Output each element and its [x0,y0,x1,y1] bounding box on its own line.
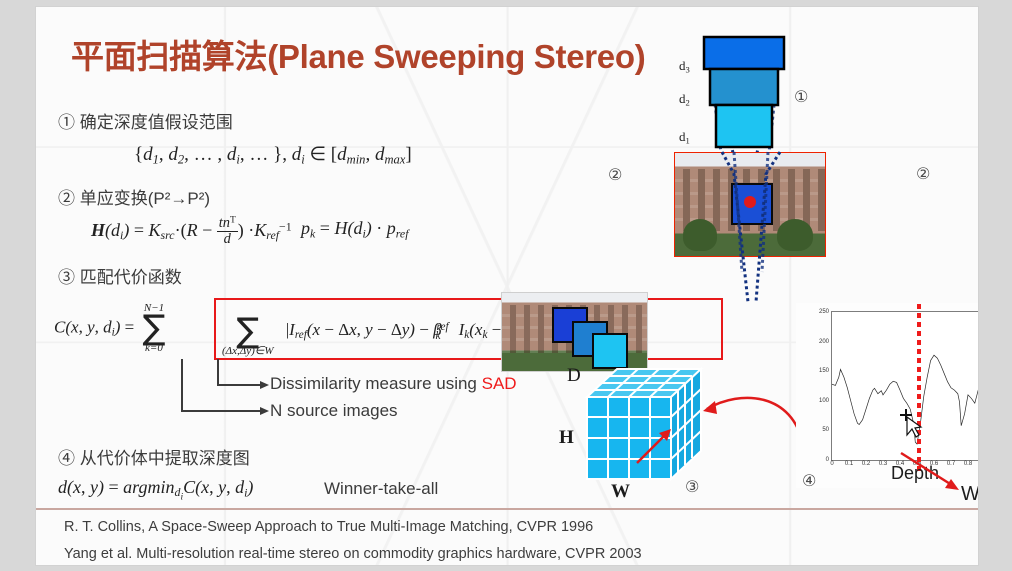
page-title: 平面扫描算法(Plane Sweeping Stereo) [71,30,645,78]
step-4-label: 从代价体中提取深度图 [80,449,250,468]
step-1-marker: ① [58,113,75,132]
frustum-label-d2: d2 [679,91,690,107]
shrub-left [683,219,717,251]
step-4-marker: ④ [58,449,75,468]
step-3-heading: ③ 匹配代价函数 [58,263,182,288]
step-1-formula: {d1, d2, … , di, … }, di ∈ [dmin, dmax] [134,143,412,168]
step-2-formula-p: pk = H(di) · pref [301,218,409,241]
citation-2: Yang et al. Multi-resolution real-time s… [64,546,642,562]
callout-2-left: ② [608,165,622,184]
chart-xtick-0.2: 0.2 [862,461,870,467]
photo-consistency-chart: Photo consistency 0 50 100 150 200 250 0… [796,303,979,488]
callout-2-right: ② [916,164,930,183]
chart-line-series [832,312,979,460]
chart-xtick-0.1: 0.1 [845,461,853,467]
callout-1: ① [794,87,808,106]
step-3-formula-lhs: C(x, y, di) = N−1∑k=0 [54,303,165,354]
step-2-formula-h: H(di) = Ksrc·(R − tnTd) ·Kref−1 [91,216,292,247]
reference-image [674,152,826,257]
chart-ytick-200: 200 [819,339,829,345]
shrub-right [777,219,813,251]
chart-ytick-150: 150 [819,368,829,374]
step-1-heading: ① 确定深度值假设范围 [58,108,233,133]
chart-xtick-0.3: 0.3 [879,461,887,467]
cube-axis-w: W [611,481,630,503]
annotation-dissimilarity: Dissimilarity measure using SAD [270,374,517,394]
step-3-label: 匹配代价函数 [80,268,182,287]
chart-ytick-100: 100 [819,398,829,404]
chart-plot-area: 0 50 100 150 200 250 0 0.1 0.2 0.3 0.4 0… [831,311,979,461]
footer-divider [36,508,978,510]
slide-canvas: 平面扫描算法(Plane Sweeping Stereo) ① 确定深度值假设范… [35,6,979,566]
cube-to-chart-arrow-icon [701,387,811,457]
step-4-heading: ④ 从代价体中提取深度图 [58,444,250,469]
step-4-formula: d(x, y) = argmindiC(x, y, di) [58,477,253,503]
step-1-label: 确定深度值假设范围 [80,113,233,132]
move-cursor-icon [898,407,924,437]
frustum-label-d1: d1 [679,129,690,145]
annotation-n-source: N source images [270,401,398,421]
citation-1: R. T. Collins, A Space-Sweep Approach to… [64,519,593,535]
winner-arrow-icon [901,453,971,495]
chart-ytick-50: 50 [822,427,829,433]
chart-ytick-250: 250 [819,309,829,315]
callout-3: ③ [685,477,699,496]
step-2-heading: ② 单应变换(P²→P²) [58,184,210,209]
sad-text: SAD [482,374,517,393]
chart-ytick-0: 0 [826,457,829,463]
cost-volume-diagram: D H W ③ [549,359,714,501]
step-2-marker: ② [58,189,75,208]
cube-axis-h: H [559,427,574,449]
callout-4: ④ [802,471,816,490]
step-3-marker: ③ [58,268,75,287]
step-2-label: 单应变换(P²→P²) [80,189,210,208]
chart-xtick-0: 0 [830,461,833,467]
reference-point-marker [744,196,756,208]
annotation-winner-take-all: Winner-take-all [324,479,438,499]
cube-axis-d: D [567,365,581,387]
chart-winner-line [917,304,921,472]
cube-inner-arrow-icon [633,419,683,469]
frustum-label-d3: d3 [679,58,690,74]
